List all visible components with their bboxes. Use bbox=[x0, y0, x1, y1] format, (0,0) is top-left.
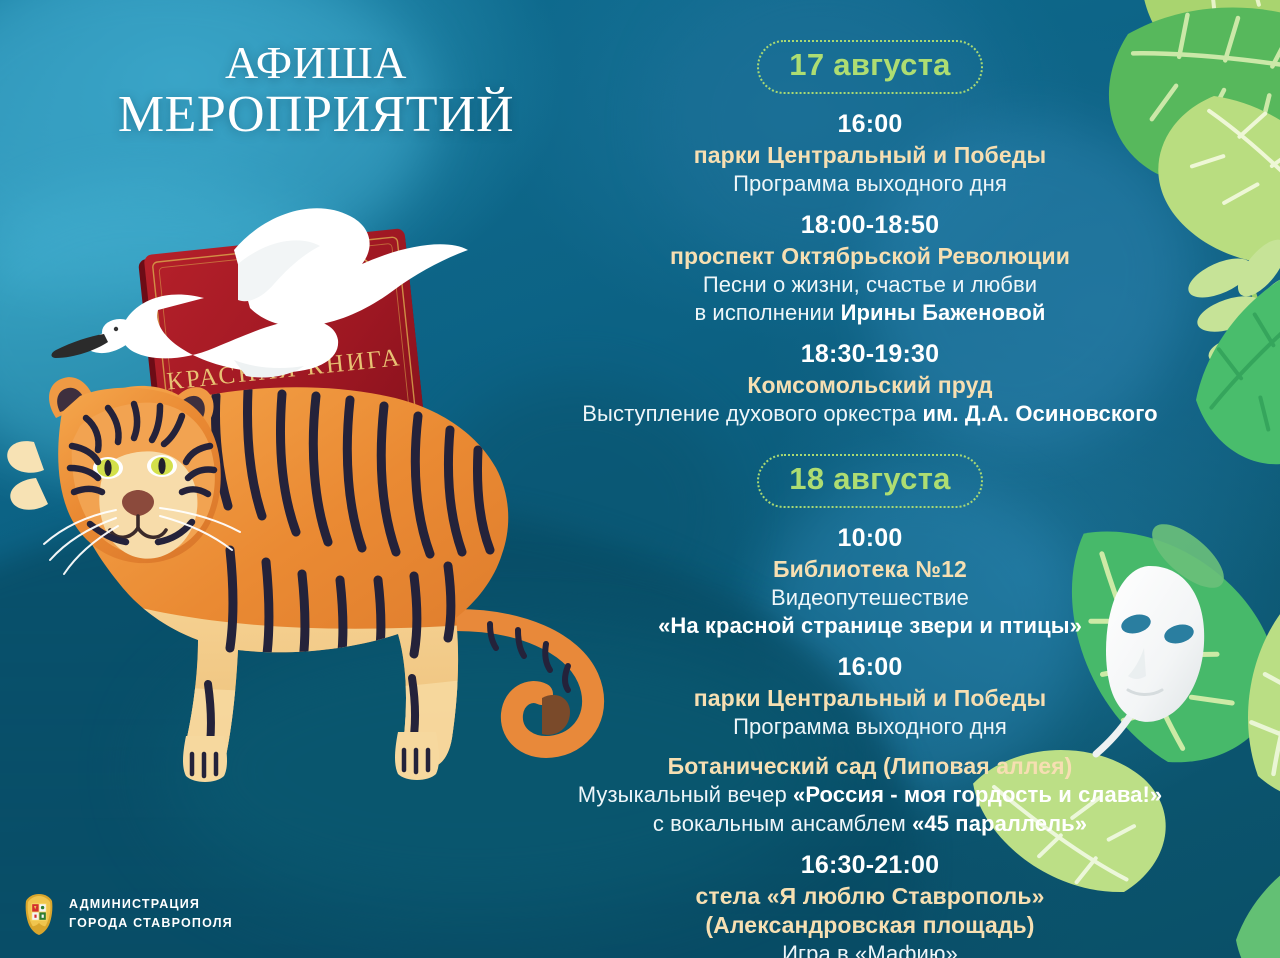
administration-logo[interactable]: АДМИНИСТРАЦИЯ ГОРОДА СТАВРОПОЛЯ bbox=[22, 892, 233, 936]
event-description: Программа выходного дня bbox=[500, 713, 1240, 741]
logo-text-line-2: ГОРОДА СТАВРОПОЛЯ bbox=[69, 914, 233, 933]
date-badge-17-august[interactable]: 17 августа bbox=[757, 40, 982, 94]
page-title: АФИША МЕРОПРИЯТИЙ bbox=[86, 38, 546, 143]
day-2-header: 18 августа bbox=[500, 454, 1240, 508]
event-performer-name: Ирины Баженовой bbox=[841, 300, 1046, 325]
event-description-orchestra: Выступление духового оркестра им. Д.А. О… bbox=[500, 400, 1240, 428]
event-description: Программа выходного дня bbox=[500, 170, 1240, 198]
event-time: 16:30-21:00 bbox=[500, 849, 1240, 881]
event-venue: Библиотека №12 bbox=[500, 555, 1240, 584]
event-description-concert: Музыкальный вечер «Россия - моя гордость… bbox=[500, 781, 1240, 809]
event-item[interactable]: 16:00 парки Центральный и Победы Програм… bbox=[500, 108, 1240, 198]
logo-text-line-1: АДМИНИСТРАЦИЯ bbox=[69, 895, 233, 914]
logo-text: АДМИНИСТРАЦИЯ ГОРОДА СТАВРОПОЛЯ bbox=[69, 895, 233, 934]
event-item[interactable]: 10:00 Библиотека №12 Видеопутешествие «Н… bbox=[500, 522, 1240, 640]
event-description-ensemble: с вокальным ансамблем «45 параллель» bbox=[500, 810, 1240, 838]
event-venue-line-2: (Александровская площадь) bbox=[500, 911, 1240, 940]
event-time: 16:00 bbox=[500, 108, 1240, 140]
event-desc-prefix: в исполнении bbox=[694, 300, 840, 325]
title-line-2: МЕРОПРИЯТИЙ bbox=[86, 87, 546, 143]
event-description: Песни о жизни, счастье и любви bbox=[500, 271, 1240, 299]
event-venue: стела «Я люблю Ставрополь» bbox=[500, 882, 1240, 911]
event-venue: Ботанический сад (Липовая аллея) bbox=[500, 752, 1240, 781]
day-1-header: 17 августа bbox=[500, 40, 1240, 94]
events-schedule: 17 августа 16:00 парки Центральный и Поб… bbox=[500, 40, 1240, 958]
event-desc-prefix: Выступление духового оркестра bbox=[582, 401, 922, 426]
event-item[interactable]: Ботанический сад (Липовая аллея) Музыкал… bbox=[500, 752, 1240, 837]
event-description: Видеопутешествие bbox=[500, 584, 1240, 612]
event-orchestra-name: им. Д.А. Осиновского bbox=[923, 401, 1158, 426]
event-venue: Комсомольский пруд bbox=[500, 371, 1240, 400]
event-time: 16:00 bbox=[500, 651, 1240, 683]
event-venue: проспект Октябрьской Революции bbox=[500, 242, 1240, 271]
event-item[interactable]: 16:30-21:00 стела «Я люблю Ставрополь» (… bbox=[500, 849, 1240, 958]
event-desc-prefix: Музыкальный вечер bbox=[578, 782, 793, 807]
title-line-1: АФИША bbox=[86, 38, 546, 87]
coat-of-arms-icon bbox=[22, 892, 56, 936]
event-description-performer: в исполнении Ирины Баженовой bbox=[500, 299, 1240, 327]
date-badge-18-august[interactable]: 18 августа bbox=[757, 454, 982, 508]
event-time: 10:00 bbox=[500, 522, 1240, 554]
event-description-title: «На красной странице звери и птицы» bbox=[500, 612, 1240, 640]
event-time: 18:30-19:30 bbox=[500, 338, 1240, 370]
event-ensemble-name: «45 параллель» bbox=[912, 811, 1087, 836]
event-item[interactable]: 18:00-18:50 проспект Октябрьской Революц… bbox=[500, 209, 1240, 327]
event-program-title: «На красной странице звери и птицы» bbox=[658, 613, 1082, 638]
event-venue: парки Центральный и Победы bbox=[500, 684, 1240, 713]
event-desc-prefix: с вокальным ансамблем bbox=[653, 811, 912, 836]
event-description: Игра в «Мафию» bbox=[500, 940, 1240, 958]
event-item[interactable]: 16:00 парки Центральный и Победы Програм… bbox=[500, 651, 1240, 741]
event-venue: парки Центральный и Победы bbox=[500, 141, 1240, 170]
event-item[interactable]: 18:30-19:30 Комсомольский пруд Выступлен… bbox=[500, 338, 1240, 428]
event-concert-title: «Россия - моя гордость и слава!» bbox=[793, 782, 1162, 807]
event-poster: КРАСНАЯ КНИГА РЕДКИЕ И ИСЧЕЗАЮЩИЕ ВИДЫ Ж… bbox=[0, 0, 1280, 958]
event-time: 18:00-18:50 bbox=[500, 209, 1240, 241]
